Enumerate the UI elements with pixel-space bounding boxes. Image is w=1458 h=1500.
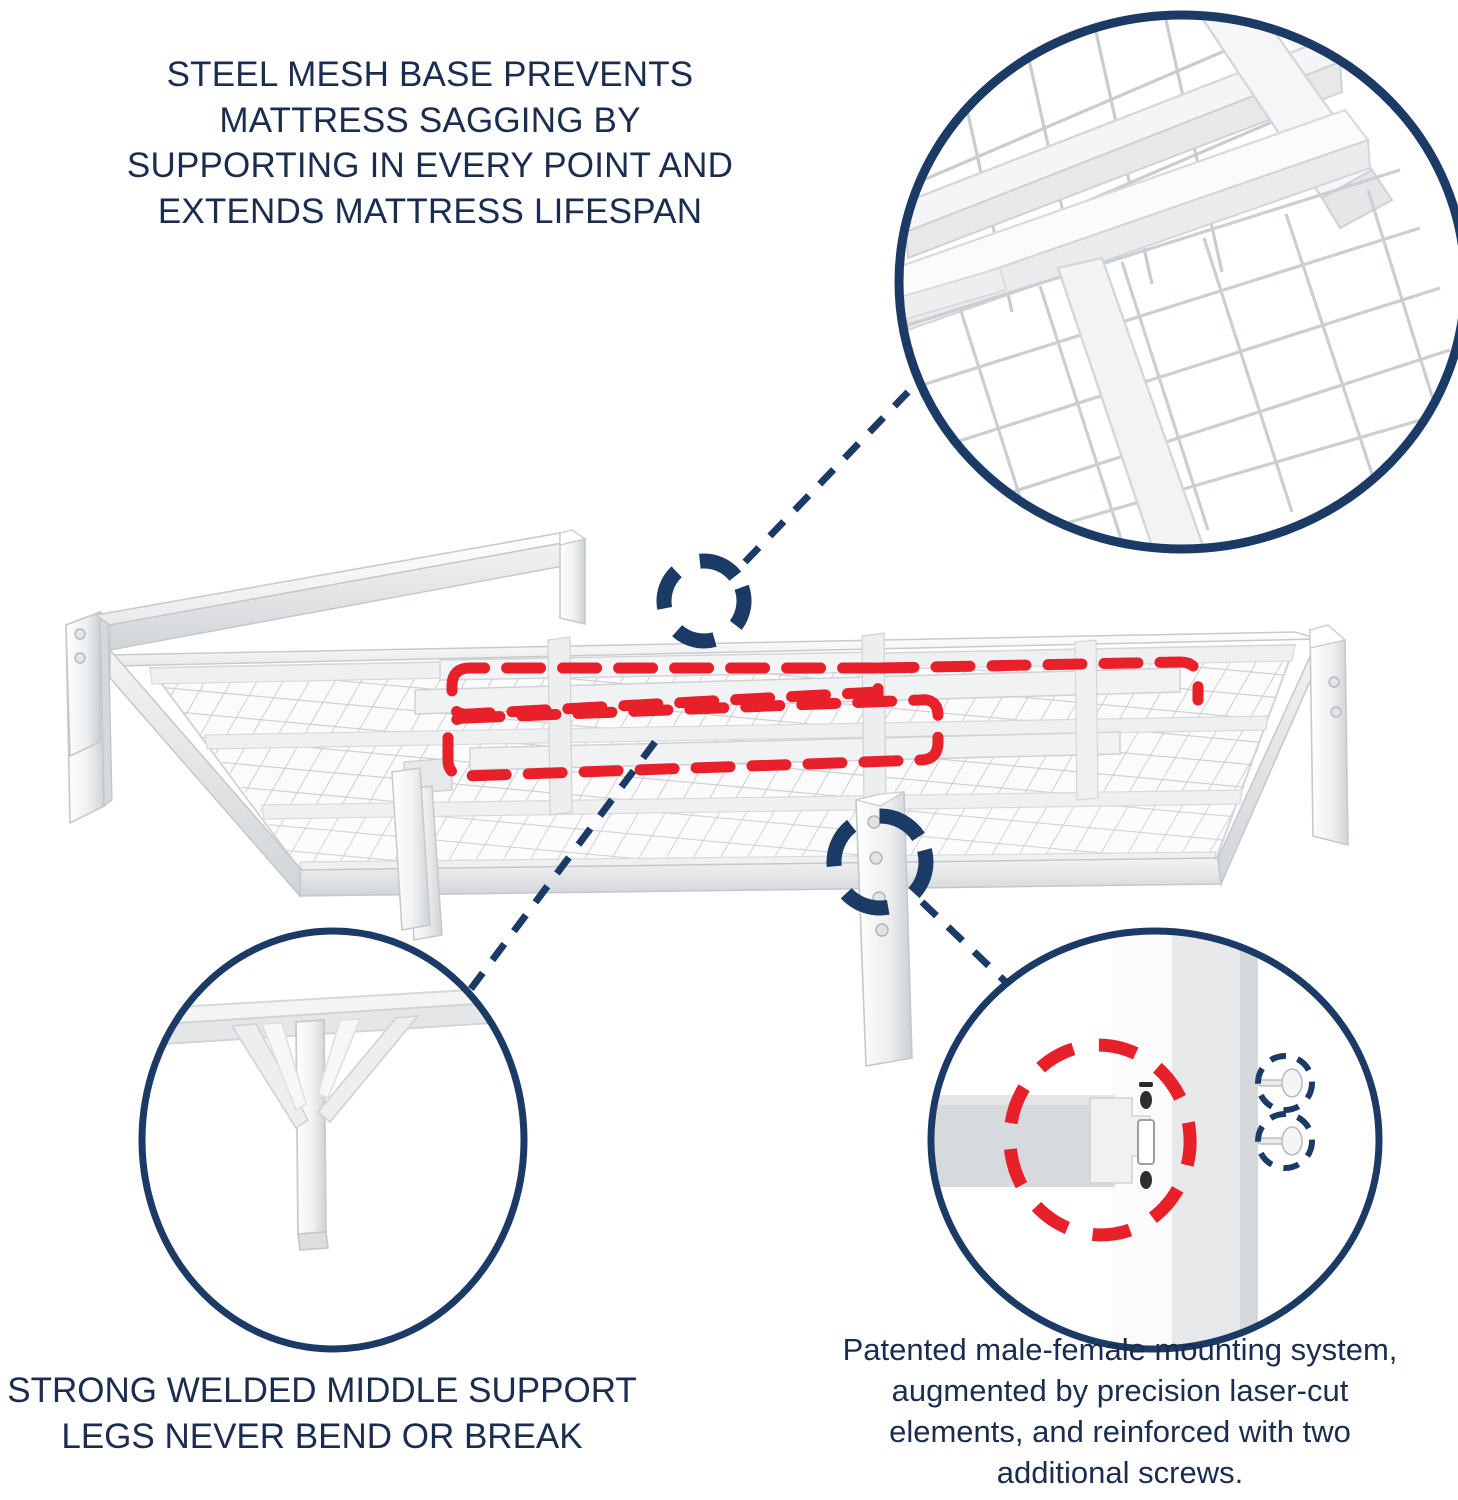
- leader-lines: [470, 392, 1012, 990]
- caption-strong-welded-middle-support: STRONG WELDED MIDDLE SUPPORT LEGS NEVER …: [0, 1368, 652, 1459]
- screw-marker-lower: [1258, 1114, 1312, 1168]
- callout-border-middle-support: [142, 931, 524, 1349]
- mounting-screw-lower: [1258, 1127, 1302, 1155]
- headboard-rail: [96, 533, 585, 650]
- mesh-grid-zoom: [890, 0, 1455, 588]
- deck-cross-slats: [150, 645, 1295, 874]
- corner-post-front-right: [856, 792, 912, 1066]
- callout-mounting-system-closeup: [925, 925, 1395, 1355]
- side-rail-front: [104, 639, 1318, 896]
- corner-post-back-left: [66, 612, 100, 756]
- callout-steel-mesh-closeup: [890, 0, 1458, 588]
- rail-corner-joint-left: [404, 758, 452, 794]
- callout-border-mounting: [931, 931, 1379, 1349]
- headboard-post-right: [560, 530, 585, 624]
- center-support-rail-group: [415, 633, 1180, 815]
- leader-line-mesh: [745, 392, 908, 562]
- infographic-canvas: STEEL MESH BASE PREVENTS MATTRESS SAGGIN…: [0, 0, 1458, 1500]
- corner-leg-right: [1310, 625, 1348, 845]
- screw-marker-upper: [1258, 1056, 1312, 1110]
- bed-frame-illustration: [66, 530, 1348, 1066]
- corner-leg-front-left: [404, 786, 442, 940]
- leader-line-mounting: [922, 902, 1012, 988]
- mounting-detail-marker: [824, 806, 937, 919]
- headline-steel-mesh-base: STEEL MESH BASE PREVENTS MATTRESS SAGGIN…: [90, 52, 770, 234]
- center-support-rail-red-outline: [448, 662, 1198, 776]
- leader-line-middle-support: [470, 742, 655, 990]
- callout-border-mesh: [899, 15, 1458, 549]
- caption-patented-mounting-system: Patented male-female mounting system, au…: [790, 1330, 1450, 1494]
- middle-support-leg-left: [392, 768, 430, 930]
- mounting-screw-upper: [1258, 1069, 1302, 1097]
- callout-middle-support-closeup: [140, 925, 530, 1355]
- mesh-detail-marker: [653, 550, 756, 653]
- side-rail-back: [110, 632, 1318, 666]
- steel-mesh-deck: [150, 645, 1295, 870]
- corner-leg-back-left: [66, 612, 112, 823]
- male-female-joint-red-outline: [998, 1033, 1203, 1246]
